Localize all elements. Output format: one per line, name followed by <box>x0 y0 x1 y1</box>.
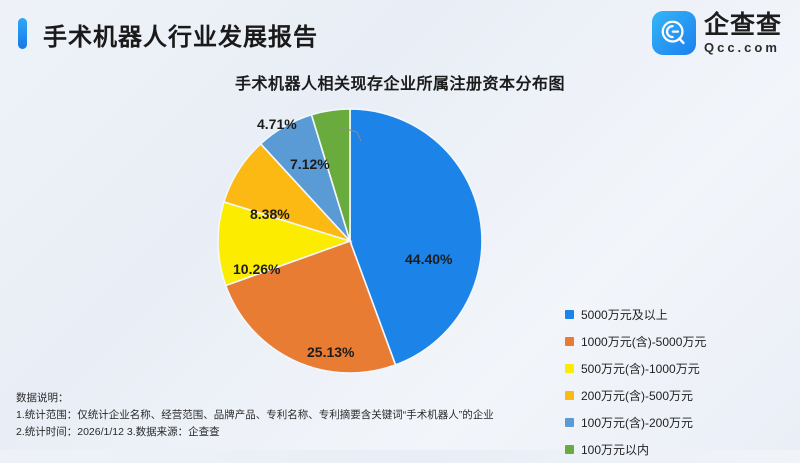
title-accent-bar <box>18 18 27 49</box>
footer-notes: 数据说明： 1.统计范围：仅统计企业名称、经营范围、品牌产品、专利名称、专利摘要… <box>16 390 786 441</box>
qcc-logo-text: 企查查 Qcc.com <box>704 13 782 54</box>
legend-label-2: 500万元(含)-1000万元 <box>581 360 700 377</box>
legend-swatch-icon-2 <box>565 364 574 373</box>
chart-area: 44.40% 25.13% 10.26% 8.38% 7.12% 4.71% 5… <box>0 98 800 388</box>
pie-value-label-3: 8.38% <box>250 206 290 222</box>
footer-heading: 数据说明： <box>16 390 786 407</box>
qcc-brand-cn: 企查查 <box>704 13 782 38</box>
pie-chart: 44.40% 25.13% 10.26% 8.38% 7.12% 4.71% <box>215 106 485 376</box>
magnifier-q-icon <box>659 18 689 48</box>
legend-swatch-icon-0 <box>565 310 574 319</box>
footer-line-2: 2.统计时间：2026/1/12 3.数据来源：企查查 <box>16 424 786 441</box>
legend-label-1: 1000万元(含)-5000万元 <box>581 333 706 350</box>
report-page: 手术机器人行业发展报告 企查查 Qcc.com 手术机器人相关现存企业所属注册资… <box>0 0 800 450</box>
qcc-brand-en: Qcc.com <box>704 41 782 54</box>
legend-label-0: 5000万元及以上 <box>581 306 668 323</box>
qcc-logo-mark-icon <box>652 11 696 55</box>
page-title: 手术机器人行业发展报告 <box>43 17 318 52</box>
legend-item-1[interactable]: 1000万元(含)-5000万元 <box>565 328 790 355</box>
pie-value-label-0: 44.40% <box>405 251 452 267</box>
pie-value-label-2: 10.26% <box>233 261 280 277</box>
pie-value-label-4: 7.12% <box>290 156 330 172</box>
pie-value-label-5: 4.71% <box>257 116 297 132</box>
legend-swatch-icon-1 <box>565 337 574 346</box>
pie-value-label-1: 25.13% <box>307 344 354 360</box>
chart-title: 手术机器人相关现存企业所属注册资本分布图 <box>0 70 800 94</box>
qcc-logo[interactable]: 企查查 Qcc.com <box>652 10 782 56</box>
legend-item-0[interactable]: 5000万元及以上 <box>565 301 790 328</box>
page-header: 手术机器人行业发展报告 企查查 Qcc.com <box>0 0 800 66</box>
footer-line-1: 1.统计范围：仅统计企业名称、经营范围、品牌产品、专利名称、专利摘要含关键词“手… <box>16 407 786 424</box>
legend-item-2[interactable]: 500万元(含)-1000万元 <box>565 355 790 382</box>
pie-slices <box>215 106 485 376</box>
